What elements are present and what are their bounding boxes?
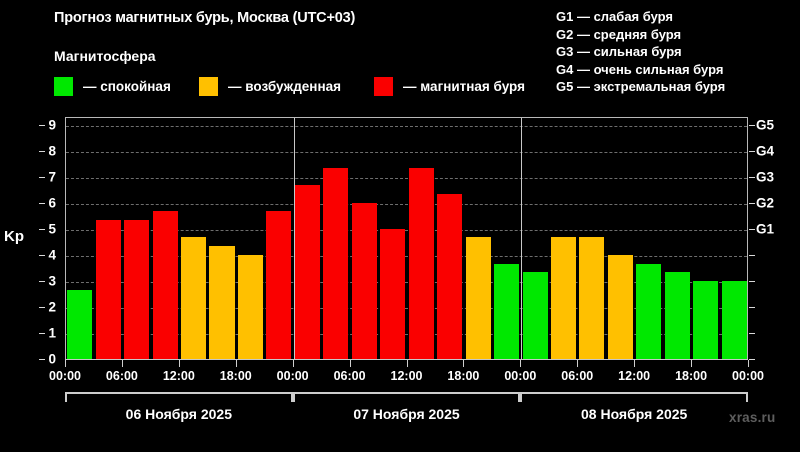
day-separator — [521, 118, 522, 359]
bar[interactable] — [523, 272, 548, 359]
x-axis-tick-label: 06:00 — [334, 369, 366, 383]
x-axis-tick — [407, 360, 408, 367]
bar[interactable] — [466, 237, 491, 359]
legend-swatch-calm — [54, 77, 73, 96]
bar[interactable] — [409, 168, 434, 359]
g-scale-tick — [749, 255, 755, 256]
x-axis-tick-label: 00:00 — [277, 369, 309, 383]
g-scale-tick — [749, 177, 755, 178]
y-axis-tick — [39, 125, 45, 126]
x-axis-tick — [463, 360, 464, 367]
bar[interactable] — [352, 203, 377, 359]
bar[interactable] — [380, 229, 405, 359]
bar[interactable] — [124, 220, 149, 359]
x-axis-tick-label: 00:00 — [732, 369, 764, 383]
legend-label-unsettled: — возбужденная — [228, 79, 341, 94]
bar[interactable] — [579, 237, 604, 359]
legend-item-calm: — спокойная — [54, 76, 171, 96]
x-axis-tick — [691, 360, 692, 367]
x-axis-tick — [179, 360, 180, 367]
day-brackets — [0, 392, 800, 404]
x-axis-tick-label: 00:00 — [504, 369, 536, 383]
legend-item-unsettled: — возбужденная — [199, 76, 341, 96]
day-labels: 06 Ноября 202507 Ноября 202508 Ноября 20… — [0, 406, 800, 426]
y-axis-tick — [39, 229, 45, 230]
x-axis-tick-label: 12:00 — [618, 369, 650, 383]
g-scale-tick — [749, 333, 755, 334]
y-axis-tick — [39, 333, 45, 334]
y-axis-tick — [39, 281, 45, 282]
bar[interactable] — [608, 255, 633, 359]
bar[interactable] — [266, 211, 291, 359]
day-label: 08 Ноября 2025 — [581, 406, 687, 422]
storm-scale-list: G1 — слабая буря G2 — средняя буря G3 — … — [556, 8, 800, 96]
x-axis-tick-label: 06:00 — [561, 369, 593, 383]
legend-swatch-unsettled — [199, 77, 218, 96]
g-scale-tick — [749, 307, 755, 308]
storm-scale-g4: G4 — очень сильная буря — [556, 61, 800, 79]
x-axis-tick — [65, 360, 66, 367]
y-axis-tick — [39, 307, 45, 308]
g-scale-tick — [749, 125, 755, 126]
x-axis-tick — [748, 360, 749, 367]
bar[interactable] — [209, 246, 234, 359]
bar[interactable] — [238, 255, 263, 359]
bar[interactable] — [494, 264, 519, 359]
day-label: 06 Ноября 2025 — [126, 406, 232, 422]
x-axis-tick — [520, 360, 521, 367]
x-axis-tick-label: 18:00 — [675, 369, 707, 383]
y-axis-title: Kp — [4, 228, 24, 245]
bar[interactable] — [181, 237, 206, 359]
x-axis-tick-label: 12:00 — [163, 369, 195, 383]
g-scale-tick — [749, 229, 755, 230]
x-axis-tick — [293, 360, 294, 367]
bar[interactable] — [693, 281, 718, 359]
x-axis-tick-label: 18:00 — [220, 369, 252, 383]
page-title: Прогноз магнитных бурь, Москва (UTC+03) — [54, 10, 355, 26]
bar[interactable] — [665, 272, 690, 359]
day-bracket — [65, 392, 293, 402]
x-axis-labels: 00:0006:0012:0018:0000:0006:0012:0018:00… — [0, 369, 800, 385]
storm-scale-g2: G2 — средняя буря — [556, 26, 800, 44]
g-scale-tick-label: G5 — [756, 118, 774, 132]
bar[interactable] — [67, 290, 92, 359]
x-axis-tick-label: 06:00 — [106, 369, 138, 383]
bar[interactable] — [323, 168, 348, 359]
y-axis-tick — [39, 151, 45, 152]
g-scale-tick — [749, 281, 755, 282]
y-axis-left: 0123456789 — [26, 117, 56, 359]
day-label: 07 Ноября 2025 — [353, 406, 459, 422]
y-axis-tick — [39, 177, 45, 178]
bar[interactable] — [295, 185, 320, 359]
legend: — спокойная — возбужденная — магнитная б… — [54, 76, 554, 96]
g-scale-tick — [749, 151, 755, 152]
storm-scale-g1: G1 — слабая буря — [556, 8, 800, 26]
y-axis-right: G1G2G3G4G5 — [756, 117, 800, 359]
chart-page: Прогноз магнитных бурь, Москва (UTC+03) … — [0, 0, 800, 452]
legend-label-calm: — спокойная — [83, 79, 171, 94]
y-axis-tick — [39, 255, 45, 256]
x-axis-tick-label: 00:00 — [49, 369, 81, 383]
bar-series — [66, 118, 747, 359]
legend-item-storm: — магнитная буря — [374, 76, 525, 96]
watermark: xras.ru — [729, 410, 775, 425]
x-axis-tick — [634, 360, 635, 367]
g-scale-tick-label: G1 — [756, 222, 774, 236]
bar[interactable] — [437, 194, 462, 359]
g-scale-tick — [749, 203, 755, 204]
x-axis-tick — [236, 360, 237, 367]
storm-scale-g5: G5 — экстремальная буря — [556, 78, 800, 96]
storm-scale-g3: G3 — сильная буря — [556, 43, 800, 61]
y-axis-tick — [39, 203, 45, 204]
g-scale-tick-label: G4 — [756, 144, 774, 158]
bar[interactable] — [153, 211, 178, 359]
day-bracket — [520, 392, 748, 402]
x-axis-line — [65, 359, 748, 360]
legend-label-storm: — магнитная буря — [403, 79, 525, 94]
legend-swatch-storm — [374, 77, 393, 96]
bar[interactable] — [551, 237, 576, 359]
x-axis-tick-label: 12:00 — [391, 369, 423, 383]
x-axis-tick — [350, 360, 351, 367]
plot-area — [65, 117, 748, 359]
bar[interactable] — [722, 281, 747, 359]
x-axis-ticks — [0, 360, 800, 368]
day-separator — [294, 118, 295, 359]
magnetosphere-label: Магнитосфера — [54, 48, 156, 64]
bar[interactable] — [96, 220, 121, 359]
bar[interactable] — [636, 264, 661, 359]
g-scale-tick-label: G2 — [756, 196, 774, 210]
x-axis-tick — [122, 360, 123, 367]
g-scale-tick-label: G3 — [756, 170, 774, 184]
x-axis-tick-label: 18:00 — [447, 369, 479, 383]
day-bracket — [293, 392, 521, 402]
x-axis-tick — [577, 360, 578, 367]
